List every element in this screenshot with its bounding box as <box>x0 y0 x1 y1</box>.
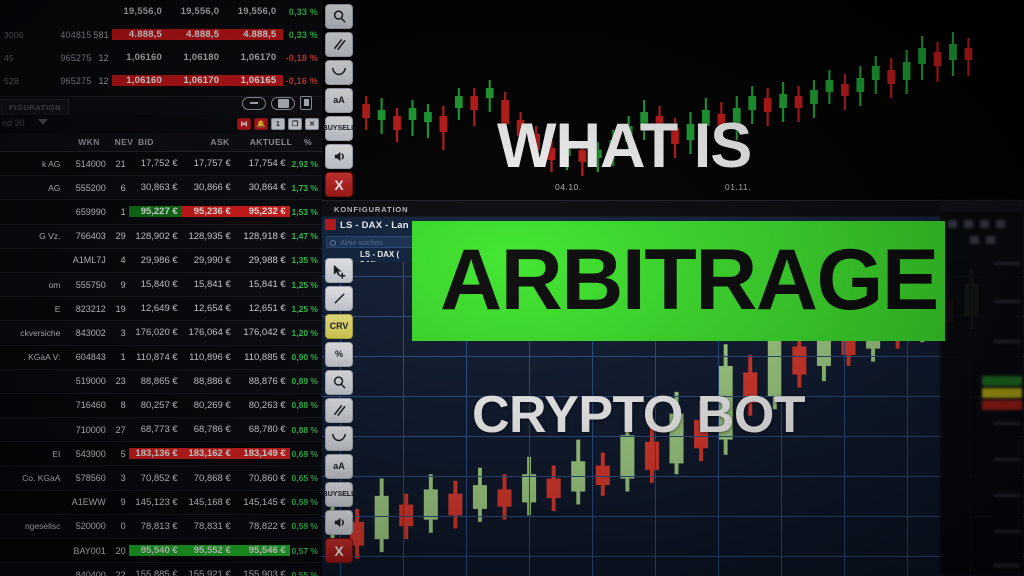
tool-label: SELL <box>337 491 355 499</box>
cell-ask: 145,168 € <box>182 497 235 508</box>
candle-body <box>918 48 926 64</box>
col-header-percent[interactable]: % <box>294 137 322 147</box>
mini-cell-bid: 19,556,0 <box>112 6 169 17</box>
table-row[interactable]: A1ML7J429,986 €29,990 €29,988 €1,35 % <box>0 249 322 273</box>
cell-percent: 2,92 % <box>290 159 322 169</box>
cell-wkn: 604843 <box>62 352 105 362</box>
cell-wkn: 766403 <box>62 231 105 241</box>
cell-percent: 0,59 % <box>290 521 322 531</box>
table-row[interactable]: E8232121912,649 €12,654 €12,651 €1,25 % <box>0 297 322 321</box>
cell-nev: 6 <box>106 183 129 193</box>
gridline-vertical <box>403 262 404 576</box>
cell-bid: 68,773 € <box>129 424 182 435</box>
panel-icon[interactable] <box>964 220 973 228</box>
col-header-ask[interactable]: ASK <box>192 137 248 147</box>
cell-name: om <box>0 280 62 290</box>
gridline-horizontal <box>322 516 1024 517</box>
cell-ask: 128,935 € <box>182 231 235 242</box>
cell-wkn: 823212 <box>62 304 105 314</box>
tool-label: % <box>335 350 343 359</box>
cell-wkn: 555200 <box>62 183 105 193</box>
col-header-bid[interactable]: BID <box>136 137 192 147</box>
cell-percent: 1,53 % <box>290 207 322 217</box>
candle-body <box>393 116 401 130</box>
cell-percent: 0,90 % <box>290 352 322 362</box>
cell-percent: 1,25 % <box>290 304 322 314</box>
cell-nev: 1 <box>106 352 129 362</box>
cell-percent: 0,57 % <box>290 546 322 556</box>
mini-cell-percent: -0,16 % <box>283 76 322 86</box>
cell-wkn: 716460 <box>62 400 105 410</box>
cell-bid: 12,649 € <box>129 303 182 314</box>
text-size-icon[interactable]: aA <box>325 88 353 113</box>
cell-bid: 145,123 € <box>129 497 182 508</box>
cell-ask: 12,654 € <box>182 303 235 314</box>
cell-percent: 0,65 % <box>290 473 322 483</box>
cell-aktuell: 176,042 € <box>235 327 290 338</box>
mini-cell-aktuell: 1,06165 <box>226 75 283 86</box>
trendline-icon[interactable] <box>325 286 353 311</box>
cell-ask: 95,236 € <box>182 206 235 217</box>
tool-label: CRV <box>330 322 349 331</box>
symbol-label: LS - DAX ( <box>360 250 399 259</box>
cell-name: E <box>0 304 62 314</box>
candle-body <box>362 104 370 118</box>
table-row[interactable]: G Vz.76640329128,902 €128,935 €128,918 €… <box>0 225 322 249</box>
table-row[interactable]: Co. KGaA578560370,852 €70,868 €70,860 €0… <box>0 466 322 490</box>
cell-aktuell: 110,885 € <box>235 352 290 363</box>
cell-wkn: 543900 <box>62 449 105 459</box>
candle-body <box>645 442 659 470</box>
candle-body <box>810 90 818 104</box>
zoom-search-icon[interactable] <box>325 370 353 395</box>
quote-table[interactable]: WKN NEV BID ASK AKTUELL % k AG5140002117… <box>0 133 322 576</box>
cell-ask: 17,757 € <box>182 158 235 169</box>
table-row[interactable]: 5190002388,865 €88,886 €88,876 €0,89 % <box>0 370 322 394</box>
cell-ask: 95,552 € <box>182 545 235 556</box>
axis-tick-label: 04.10. <box>555 182 582 192</box>
table-row[interactable]: ngesellsc520000078,813 €78,831 €78,822 €… <box>0 515 322 539</box>
zoom-search-icon[interactable] <box>325 4 353 29</box>
table-row[interactable]: A1EWW9145,123 €145,168 €145,145 €0,59 % <box>0 491 322 515</box>
search-icon <box>330 240 336 246</box>
search-placeholder: Aktie suchen <box>340 238 383 247</box>
candle-body <box>965 48 973 60</box>
mini-cell-percent: 0,33 % <box>283 30 322 40</box>
candle-body <box>934 52 942 66</box>
table-row[interactable]: ckversiche8430023176,020 €176,064 €176,0… <box>0 321 322 345</box>
tool-label: X <box>334 544 343 558</box>
price-badge-yellow <box>982 388 1022 398</box>
candle-body <box>375 496 389 539</box>
cell-percent: 1,47 % <box>290 231 322 241</box>
cell-nev: 1 <box>106 207 129 217</box>
col-header-aktuell[interactable]: AKTUELL <box>248 137 294 147</box>
price-tick <box>994 530 1020 533</box>
mobile-view-icon[interactable] <box>300 96 312 110</box>
panel-icon[interactable] <box>970 236 979 244</box>
tool-label: BUY <box>323 491 338 499</box>
cell-wkn: 578560 <box>62 473 105 483</box>
cell-aktuell: 183,149 € <box>235 448 290 459</box>
candle-body <box>887 70 895 84</box>
candle-body <box>448 494 462 516</box>
crv-icon[interactable]: CRV <box>325 314 353 339</box>
cell-name: ngesellsc <box>0 521 62 531</box>
right-side-panel <box>940 200 1024 576</box>
index-dropdown-label: nd 30 <box>2 118 25 128</box>
cell-nev: 3 <box>106 328 129 338</box>
chart-x-axis: 04.10.01.11. <box>360 182 1024 198</box>
col-header-nev[interactable]: NEV <box>112 137 136 147</box>
candle-body <box>470 96 478 110</box>
cell-aktuell: 68,780 € <box>235 424 290 435</box>
mini-cell-bid: 4.888,5 <box>112 29 169 40</box>
price-badge-red <box>982 400 1022 410</box>
cell-wkn: 514000 <box>62 159 105 169</box>
cell-name: ckversiche <box>0 328 62 338</box>
price-tick <box>994 422 1020 425</box>
mini-cell-ask: 4.888,5 <box>169 29 226 40</box>
cell-aktuell: 80,263 € <box>235 400 290 411</box>
cell-wkn: BAY001 <box>62 546 105 556</box>
cell-nev: 8 <box>106 400 129 410</box>
price-tick <box>994 494 1020 497</box>
minimize-toggle-icon[interactable] <box>242 97 266 110</box>
cell-bid: 29,986 € <box>129 255 182 266</box>
cell-nev: 0 <box>106 521 129 531</box>
candle-body <box>792 346 806 374</box>
cell-bid: 78,813 € <box>129 521 182 532</box>
cell-percent: 0,89 % <box>290 376 322 386</box>
cell-name: EI <box>0 449 62 459</box>
cell-nev: 27 <box>106 425 129 435</box>
cell-bid: 30,863 € <box>129 182 182 193</box>
tool-label: X <box>334 178 343 192</box>
table-row[interactable]: 7100002768,773 €68,786 €68,780 €0,88 % <box>0 418 322 442</box>
cell-nev: 22 <box>106 570 129 576</box>
table-row[interactable]: om555750915,840 €15,841 €15,841 €1,25 % <box>0 273 322 297</box>
candle-body <box>795 96 803 108</box>
cell-wkn: A1ML7J <box>62 255 105 265</box>
panel-icon[interactable] <box>986 236 995 244</box>
popout-icon[interactable]: ❐ <box>288 118 302 130</box>
cell-percent: 1,73 % <box>290 183 322 193</box>
cell-name: G Vz. <box>0 231 62 241</box>
cell-bid: 95,227 € <box>129 206 182 217</box>
mini-cell-nev: 12 <box>92 76 112 86</box>
mini-table-row[interactable]: 45965275121,061601,061801,06170-0,18 % <box>0 46 322 69</box>
screenshot-stage: 19,556,019,556,019,556,00,33 %3000404815… <box>0 0 1024 576</box>
cell-ask: 80,269 € <box>182 400 235 411</box>
axis-tick-label: 01.11. <box>725 182 751 192</box>
price-tick <box>994 340 1020 343</box>
link-icon[interactable]: ⋈ <box>237 118 251 130</box>
mini-cell-wkn: 404815 <box>44 30 91 40</box>
right-panel-header <box>940 200 1024 212</box>
mini-cell-ask: 1,06170 <box>169 75 226 86</box>
cell-nev: 9 <box>106 497 129 507</box>
panel-icon[interactable] <box>948 220 957 228</box>
tool-label: SELL <box>337 125 355 133</box>
cell-bid: 70,852 € <box>129 473 182 484</box>
candle-body <box>440 116 448 132</box>
col-header-wkn[interactable]: WKN <box>66 137 112 147</box>
gridline-horizontal <box>322 556 1024 557</box>
mini-cell-name: 3000 <box>0 30 44 40</box>
speaker-icon[interactable] <box>325 510 353 535</box>
candle-body <box>473 485 487 509</box>
cell-percent: 0,69 % <box>290 449 322 459</box>
cell-aktuell: 95,232 € <box>235 206 290 217</box>
table-row[interactable]: EI5439005183,136 €183,162 €183,149 €0,69… <box>0 442 322 466</box>
candle-body <box>764 98 772 112</box>
cell-ask: 15,841 € <box>182 279 235 290</box>
cell-bid: 88,865 € <box>129 376 182 387</box>
cell-bid: 128,902 € <box>129 231 182 242</box>
cell-bid: 15,840 € <box>129 279 182 290</box>
mini-cell-bid: 1,06160 <box>112 75 169 86</box>
mini-cell-ask: 19,556,0 <box>169 6 226 17</box>
cell-percent: 0,59 % <box>290 497 322 507</box>
cell-aktuell: 29,988 € <box>235 255 290 266</box>
table-header-row: WKN NEV BID ASK AKTUELL % <box>0 133 322 152</box>
candle-body <box>409 108 417 120</box>
gridline-horizontal <box>322 356 1024 357</box>
cell-bid: 95,540 € <box>129 545 182 556</box>
close-icon[interactable]: X <box>325 172 353 197</box>
chart-toolbar-top[interactable]: aABUYSELLX <box>325 4 359 197</box>
cell-ask: 70,868 € <box>182 473 235 484</box>
candle-body <box>841 84 849 96</box>
cell-aktuell: 17,754 € <box>235 158 290 169</box>
cell-percent: 1,25 % <box>290 280 322 290</box>
table-row[interactable]: BAY0012095,540 €95,552 €95,546 €0,57 % <box>0 539 322 563</box>
mini-cell-name: 45 <box>0 53 44 63</box>
cell-ask: 68,786 € <box>182 424 235 435</box>
tool-label: aA <box>333 96 345 105</box>
table-row[interactable]: 659990195,227 €95,236 €95,232 €1,53 % <box>0 200 322 224</box>
gridline-horizontal <box>322 476 1024 477</box>
mini-cell-aktuell: 1,06170 <box>226 52 283 63</box>
konfiguration-bar[interactable]: KONFIGURATION <box>322 200 1024 217</box>
cell-percent: 1,35 % <box>290 255 322 265</box>
candle-body <box>378 110 386 120</box>
mini-table-row[interactable]: 30004048155814.888,54.888,54.888,50,33 % <box>0 23 322 46</box>
cell-name: . KGaA V: <box>0 352 62 362</box>
mini-cell-nev: 581 <box>92 30 112 40</box>
cell-nev: 20 <box>106 546 129 556</box>
cell-wkn: 710000 <box>62 425 105 435</box>
candle-body <box>779 94 787 108</box>
table-row[interactable]: . KGaA V:6048431110,874 €110,896 €110,88… <box>0 346 322 370</box>
cell-ask: 30,866 € <box>182 182 235 193</box>
cell-ask: 88,886 € <box>182 376 235 387</box>
cell-bid: 176,020 € <box>129 327 182 338</box>
close-icon[interactable]: X <box>325 538 353 563</box>
konfiguration-label: KONFIGURATION <box>334 205 408 214</box>
table-row[interactable]: 84040022155,885 €155,921 €155,903 €0,55 … <box>0 563 322 576</box>
cell-nev: 21 <box>106 159 129 169</box>
price-badge-green <box>982 376 1022 386</box>
tool-label: BUY <box>323 125 338 133</box>
buy-sell-icon[interactable]: BUYSELL <box>325 116 353 141</box>
cell-ask: 155,921 € <box>182 569 235 576</box>
candle-body <box>498 489 512 506</box>
mini-cell-nev: 12 <box>92 53 112 63</box>
candle-body <box>424 112 432 122</box>
chevron-down-icon[interactable] <box>38 119 48 125</box>
mini-cell-name: 528 <box>0 76 44 86</box>
cell-nev: 5 <box>106 449 129 459</box>
chart-tab-title[interactable]: LS - DAX - Lan <box>340 220 409 231</box>
cell-wkn: A1EWW <box>62 497 105 507</box>
mini-table-row[interactable]: 19,556,019,556,019,556,00,33 % <box>0 0 322 23</box>
cell-aktuell: 155,903 € <box>235 569 290 576</box>
headline-line-2: ARBITRAGE <box>440 237 938 323</box>
cell-bid: 80,257 € <box>129 400 182 411</box>
cell-aktuell: 78,822 € <box>235 521 290 532</box>
mini-table-row[interactable]: 528965275121,061601,061701,06165-0,16 % <box>0 69 322 92</box>
curve-icon[interactable] <box>325 426 353 451</box>
candle-body <box>826 80 834 92</box>
cell-nev: 3 <box>106 473 129 483</box>
mini-cell-ask: 1,06180 <box>169 52 226 63</box>
cell-wkn: 555750 <box>62 280 105 290</box>
cell-ask: 110,896 € <box>182 352 235 363</box>
mini-cell-percent: 0,33 % <box>283 7 322 17</box>
table-row[interactable]: k AG5140002117,752 €17,757 €17,754 €2,92… <box>0 152 322 176</box>
parallel-lines-icon[interactable] <box>325 398 353 423</box>
candle-body <box>486 88 494 98</box>
price-tick <box>994 458 1020 461</box>
speaker-icon[interactable] <box>325 144 353 169</box>
mini-cell-aktuell: 4.888,5 <box>226 29 283 40</box>
price-tick <box>994 564 1020 567</box>
table-body[interactable]: k AG5140002117,752 €17,757 €17,754 €2,92… <box>0 152 322 576</box>
mini-cell-bid: 1,06160 <box>112 52 169 63</box>
mini-cell-wkn: 965275 <box>44 76 91 86</box>
watchlist-panel: 19,556,019,556,019,556,00,33 %3000404815… <box>0 0 322 576</box>
window-control-group[interactable]: ⋈ 🔔 1 ❐ ✕ <box>237 118 319 130</box>
cell-nev: 9 <box>106 280 129 290</box>
headline-line-3: CRYPTO BOT <box>472 389 805 441</box>
candle-body <box>455 96 463 108</box>
cell-name: k AG <box>0 159 62 169</box>
candle-body <box>856 78 864 92</box>
percent-icon[interactable]: % <box>325 342 353 367</box>
bell-icon[interactable]: 🔔 <box>254 118 268 130</box>
mini-cell-percent: -0,18 % <box>283 53 322 63</box>
cell-percent: 0,88 % <box>290 400 322 410</box>
cell-wkn: 840400 <box>62 570 105 576</box>
buy-sell-icon[interactable]: BUYSELL <box>325 482 353 507</box>
candle-body <box>547 479 561 498</box>
cell-wkn: 519000 <box>62 376 105 386</box>
cell-nev: 29 <box>106 231 129 241</box>
candle-body <box>872 66 880 80</box>
cell-aktuell: 145,145 € <box>235 497 290 508</box>
cell-name: Co. KGaA <box>0 473 62 483</box>
cell-nev: 4 <box>106 255 129 265</box>
candle-body <box>949 44 957 60</box>
price-tick <box>994 300 1020 303</box>
chart-tab-icon <box>325 219 336 230</box>
table-row[interactable]: 716460880,257 €80,269 €80,263 €0,88 % <box>0 394 322 418</box>
cell-percent: 0,88 % <box>290 425 322 435</box>
chart-toolbar-bottom[interactable]: CRV%aABUYSELLX <box>325 258 359 563</box>
panel-icon[interactable] <box>996 220 1005 228</box>
panel-icon[interactable] <box>980 220 989 228</box>
cell-aktuell: 70,860 € <box>235 473 290 484</box>
cursor-add-icon[interactable] <box>325 258 353 283</box>
cell-aktuell: 95,546 € <box>235 545 290 556</box>
cell-ask: 78,831 € <box>182 521 235 532</box>
cell-ask: 176,064 € <box>182 327 235 338</box>
tab-konfiguration[interactable]: FIGURATION <box>1 99 69 115</box>
curve-icon[interactable] <box>325 60 353 85</box>
price-tick <box>994 262 1020 265</box>
candle-body <box>748 96 756 110</box>
window-control-group-top[interactable] <box>242 96 312 110</box>
parallel-lines-icon[interactable] <box>325 32 353 57</box>
cell-bid: 155,885 € <box>129 569 182 576</box>
numbered-window-icon[interactable]: 1 <box>271 118 285 130</box>
cell-wkn: 843002 <box>62 328 105 338</box>
cell-aktuell: 15,841 € <box>235 279 290 290</box>
tool-label: aA <box>333 462 345 471</box>
cell-nev: 19 <box>106 304 129 314</box>
cell-name: AG <box>0 183 62 193</box>
mini-cell-wkn: 965275 <box>44 53 91 63</box>
cell-nev: 23 <box>106 376 129 386</box>
cell-bid: 110,874 € <box>129 352 182 363</box>
table-row[interactable]: AG555200630,863 €30,866 €30,864 €1,73 % <box>0 176 322 200</box>
restore-toggle-icon[interactable] <box>271 97 295 110</box>
cell-aktuell: 128,918 € <box>235 231 290 242</box>
candle-body <box>903 62 911 80</box>
cell-bid: 183,136 € <box>129 448 182 459</box>
cell-wkn: 659990 <box>62 207 105 217</box>
cell-aktuell: 30,864 € <box>235 182 290 193</box>
cell-percent: 1,20 % <box>290 328 322 338</box>
cell-percent: 0,55 % <box>290 570 322 576</box>
cell-ask: 29,990 € <box>182 255 235 266</box>
mini-cell-aktuell: 19,556,0 <box>226 6 283 17</box>
mini-quote-table[interactable]: 19,556,019,556,019,556,00,33 %3000404815… <box>0 0 322 96</box>
headline-line-1: WHAT IS <box>497 115 751 178</box>
cell-aktuell: 88,876 € <box>235 376 290 387</box>
cell-wkn: 520000 <box>62 521 105 531</box>
cell-ask: 183,162 € <box>182 448 235 459</box>
text-size-icon[interactable]: aA <box>325 454 353 479</box>
close-icon[interactable]: ✕ <box>305 118 319 130</box>
cell-bid: 17,752 € <box>129 158 182 169</box>
cell-aktuell: 12,651 € <box>235 303 290 314</box>
